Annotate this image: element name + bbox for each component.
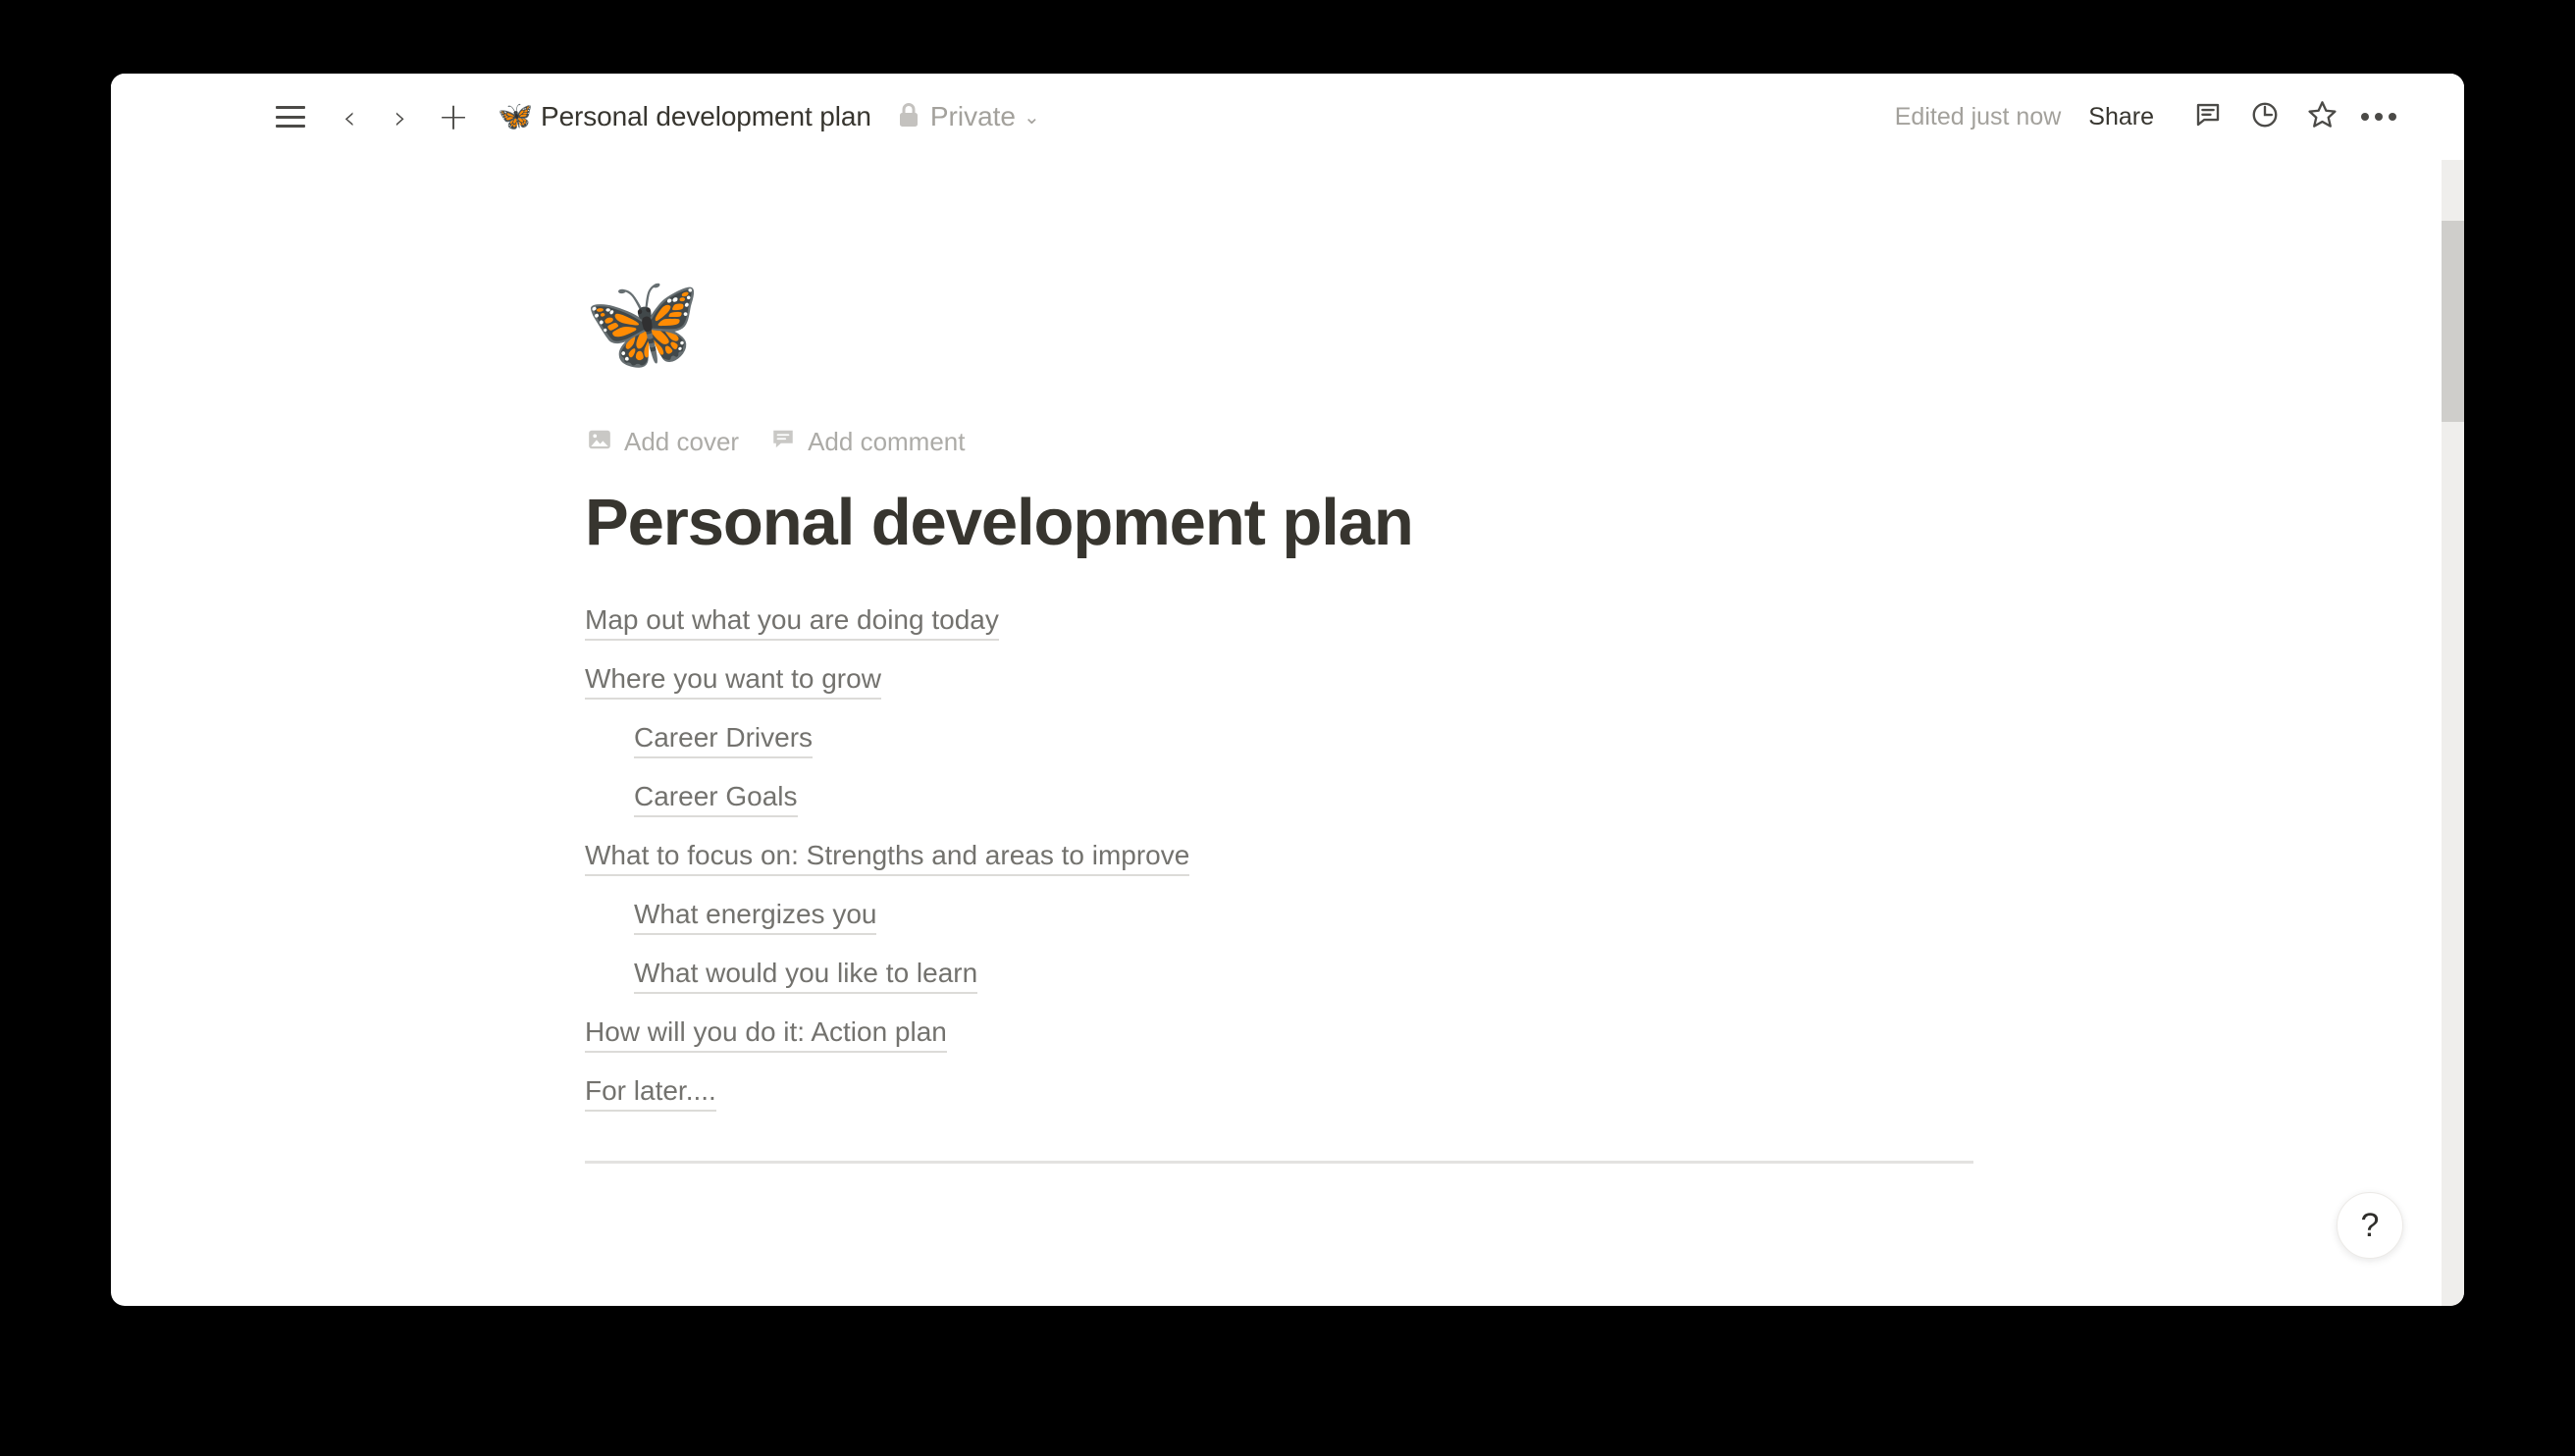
page-title[interactable]: Personal development plan [585,487,2464,559]
app-window: ‹ › + 🦋 Personal development plan [111,74,2464,1306]
page-link-career-goals[interactable]: Career Goals [634,781,798,817]
list-item: What energizes you [585,888,2464,947]
page-link-what-would-you-like-to-learn[interactable]: What would you like to learn [634,958,977,994]
privacy-dropdown[interactable]: Private ⌄ [897,101,1040,133]
help-button[interactable]: ? [2337,1192,2403,1259]
star-icon [2307,99,2338,134]
top-bar: ‹ › + 🦋 Personal development plan [111,74,2464,160]
hamburger-menu-icon [276,106,305,128]
list-item: Where you want to grow [585,652,2464,711]
list-item: Map out what you are doing today [585,594,2464,652]
image-icon [587,427,612,457]
chevron-down-icon: ⌄ [1024,107,1040,127]
content-divider [585,1161,1973,1164]
page-butterfly-icon[interactable]: 🦋 [584,277,2464,394]
list-item: Career Drivers [585,711,2464,770]
clock-history-icon [2250,100,2280,134]
plus-icon: + [438,98,469,135]
page-history-button[interactable] [2238,90,2291,143]
more-options-button[interactable] [2352,90,2405,143]
add-cover-button[interactable]: Add cover [587,427,739,457]
breadcrumb-title: Personal development plan [541,101,871,132]
add-cover-label: Add cover [624,427,739,457]
page-link-map-out-today[interactable]: Map out what you are doing today [585,604,999,641]
add-comment-button[interactable]: Add comment [770,427,965,457]
list-item: What would you like to learn [585,947,2464,1006]
list-item: How will you do it: Action plan [585,1006,2464,1065]
edited-status: Edited just now [1895,103,2062,131]
chevron-right-icon: › [394,101,406,133]
page-link-for-later[interactable]: For later.... [585,1075,716,1112]
favorite-button[interactable] [2295,90,2348,143]
comment-bubble-icon [2193,100,2223,134]
add-comment-label: Add comment [808,427,965,457]
comments-button[interactable] [2181,90,2234,143]
butterfly-icon: 🦋 [498,103,529,131]
list-item: Career Goals [585,770,2464,829]
page-link-where-you-want-to-grow[interactable]: Where you want to grow [585,663,881,700]
comment-icon [770,427,796,457]
page-content-area: 🦋 Add cover [111,160,2464,1306]
page-link-career-drivers[interactable]: Career Drivers [634,722,813,758]
page-link-what-to-focus-on[interactable]: What to focus on: Strengths and areas to… [585,840,1189,876]
vertical-scrollbar-thumb[interactable] [2442,221,2464,422]
new-page-button[interactable]: + [431,94,476,139]
sidebar-toggle-button[interactable] [268,94,313,139]
navigate-back-button[interactable]: ‹ [327,94,372,139]
lock-icon [897,101,920,133]
page-link-what-energizes-you[interactable]: What energizes you [634,899,876,935]
vertical-scrollbar-track[interactable] [2442,160,2464,1306]
page-actions-row: Add cover Add comment [587,427,2464,457]
list-item: For later.... [585,1065,2464,1123]
privacy-label: Private [930,101,1016,132]
share-button[interactable]: Share [2088,103,2154,131]
topbar-right-group: Edited just now Share [1895,74,2407,160]
more-options-icon [2361,113,2396,121]
breadcrumb[interactable]: 🦋 Personal development plan [498,101,871,132]
page-body: 🦋 Add cover [111,160,2464,1164]
page-link-list: Map out what you are doing today Where y… [585,594,2464,1123]
chevron-left-icon: ‹ [342,101,355,133]
desktop-backdrop: ‹ › + 🦋 Personal development plan [0,0,2575,1456]
page-link-action-plan[interactable]: How will you do it: Action plan [585,1016,947,1053]
question-mark-icon: ? [2361,1209,2380,1242]
topbar-left-group: ‹ › + 🦋 Personal development plan [111,94,1040,139]
navigate-forward-button[interactable]: › [378,94,423,139]
list-item: What to focus on: Strengths and areas to… [585,829,2464,888]
